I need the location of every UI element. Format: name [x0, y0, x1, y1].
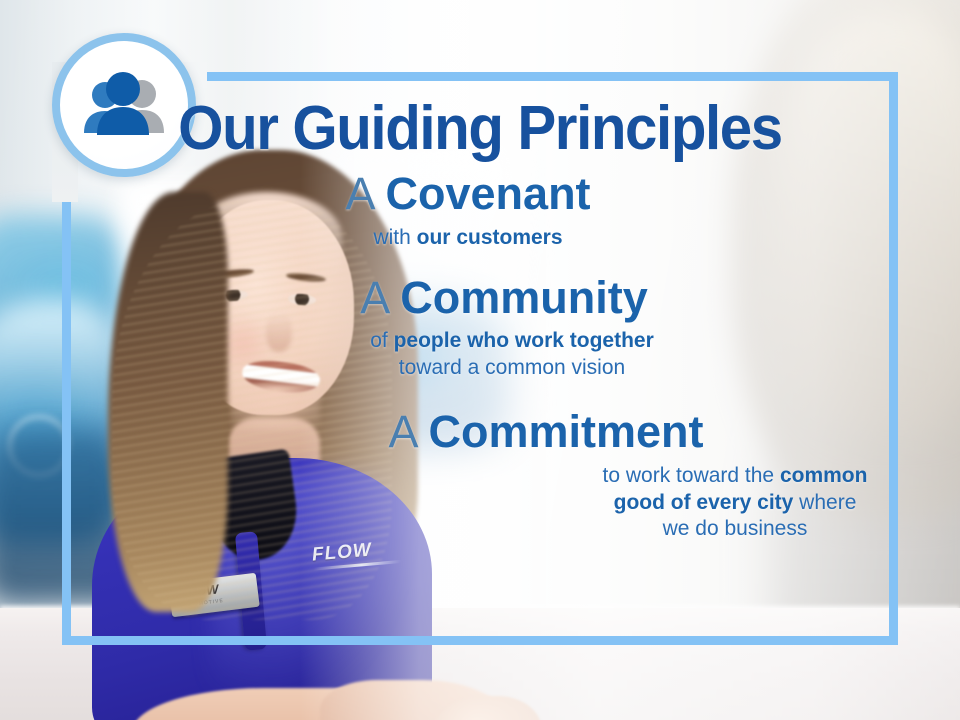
principles-copy: Our Guiding Principles A Covenantwith ou… — [62, 72, 898, 645]
emphasis-text: people who work together — [394, 329, 654, 352]
principle-title: A Community — [120, 274, 888, 322]
principle-description-line: toward a common vision — [128, 355, 896, 382]
emphasis-text: good of every city — [614, 491, 794, 514]
plain-text: to work toward the — [603, 464, 780, 487]
principle-description: to work toward the commongood of every c… — [520, 463, 950, 544]
principle-keyword: Community — [400, 272, 648, 323]
plain-text: of — [370, 329, 393, 352]
principle-keyword: Covenant — [386, 168, 591, 219]
principle-description-line: of people who work together — [128, 328, 896, 355]
principle-title: A Commitment — [162, 408, 930, 456]
principles-list: A Covenantwith our customersA Communityo… — [96, 170, 864, 543]
principle-2: A Communityof people who work togetherto… — [96, 274, 864, 382]
principle-description-line: to work toward the common — [520, 463, 950, 490]
plain-text: with — [373, 226, 416, 249]
banner-graphic: FLOW FLOW AUTOMOTIVE — [0, 0, 960, 720]
principle-title: A Covenant — [84, 170, 852, 218]
principle-description: of people who work togethertoward a comm… — [128, 328, 896, 382]
principle-3: A Commitmentto work toward the commongoo… — [96, 408, 864, 543]
plain-text: toward a common vision — [399, 356, 625, 379]
emphasis-text: our customers — [417, 226, 563, 249]
principle-description-line: with our customers — [84, 225, 852, 252]
principle-description-line: good of every city where — [520, 490, 950, 517]
plain-text: we do business — [663, 517, 808, 540]
page-title: Our Guiding Principles — [119, 98, 841, 160]
plain-text: where — [793, 491, 856, 514]
principle-keyword: Commitment — [429, 406, 704, 457]
principle-description-line: we do business — [520, 516, 950, 543]
principle-1: A Covenantwith our customers — [96, 170, 864, 252]
emphasis-text: common — [780, 464, 868, 487]
principle-article: A — [345, 168, 373, 219]
principle-article: A — [360, 272, 388, 323]
principle-description: with our customers — [84, 225, 852, 252]
principle-article: A — [388, 406, 416, 457]
